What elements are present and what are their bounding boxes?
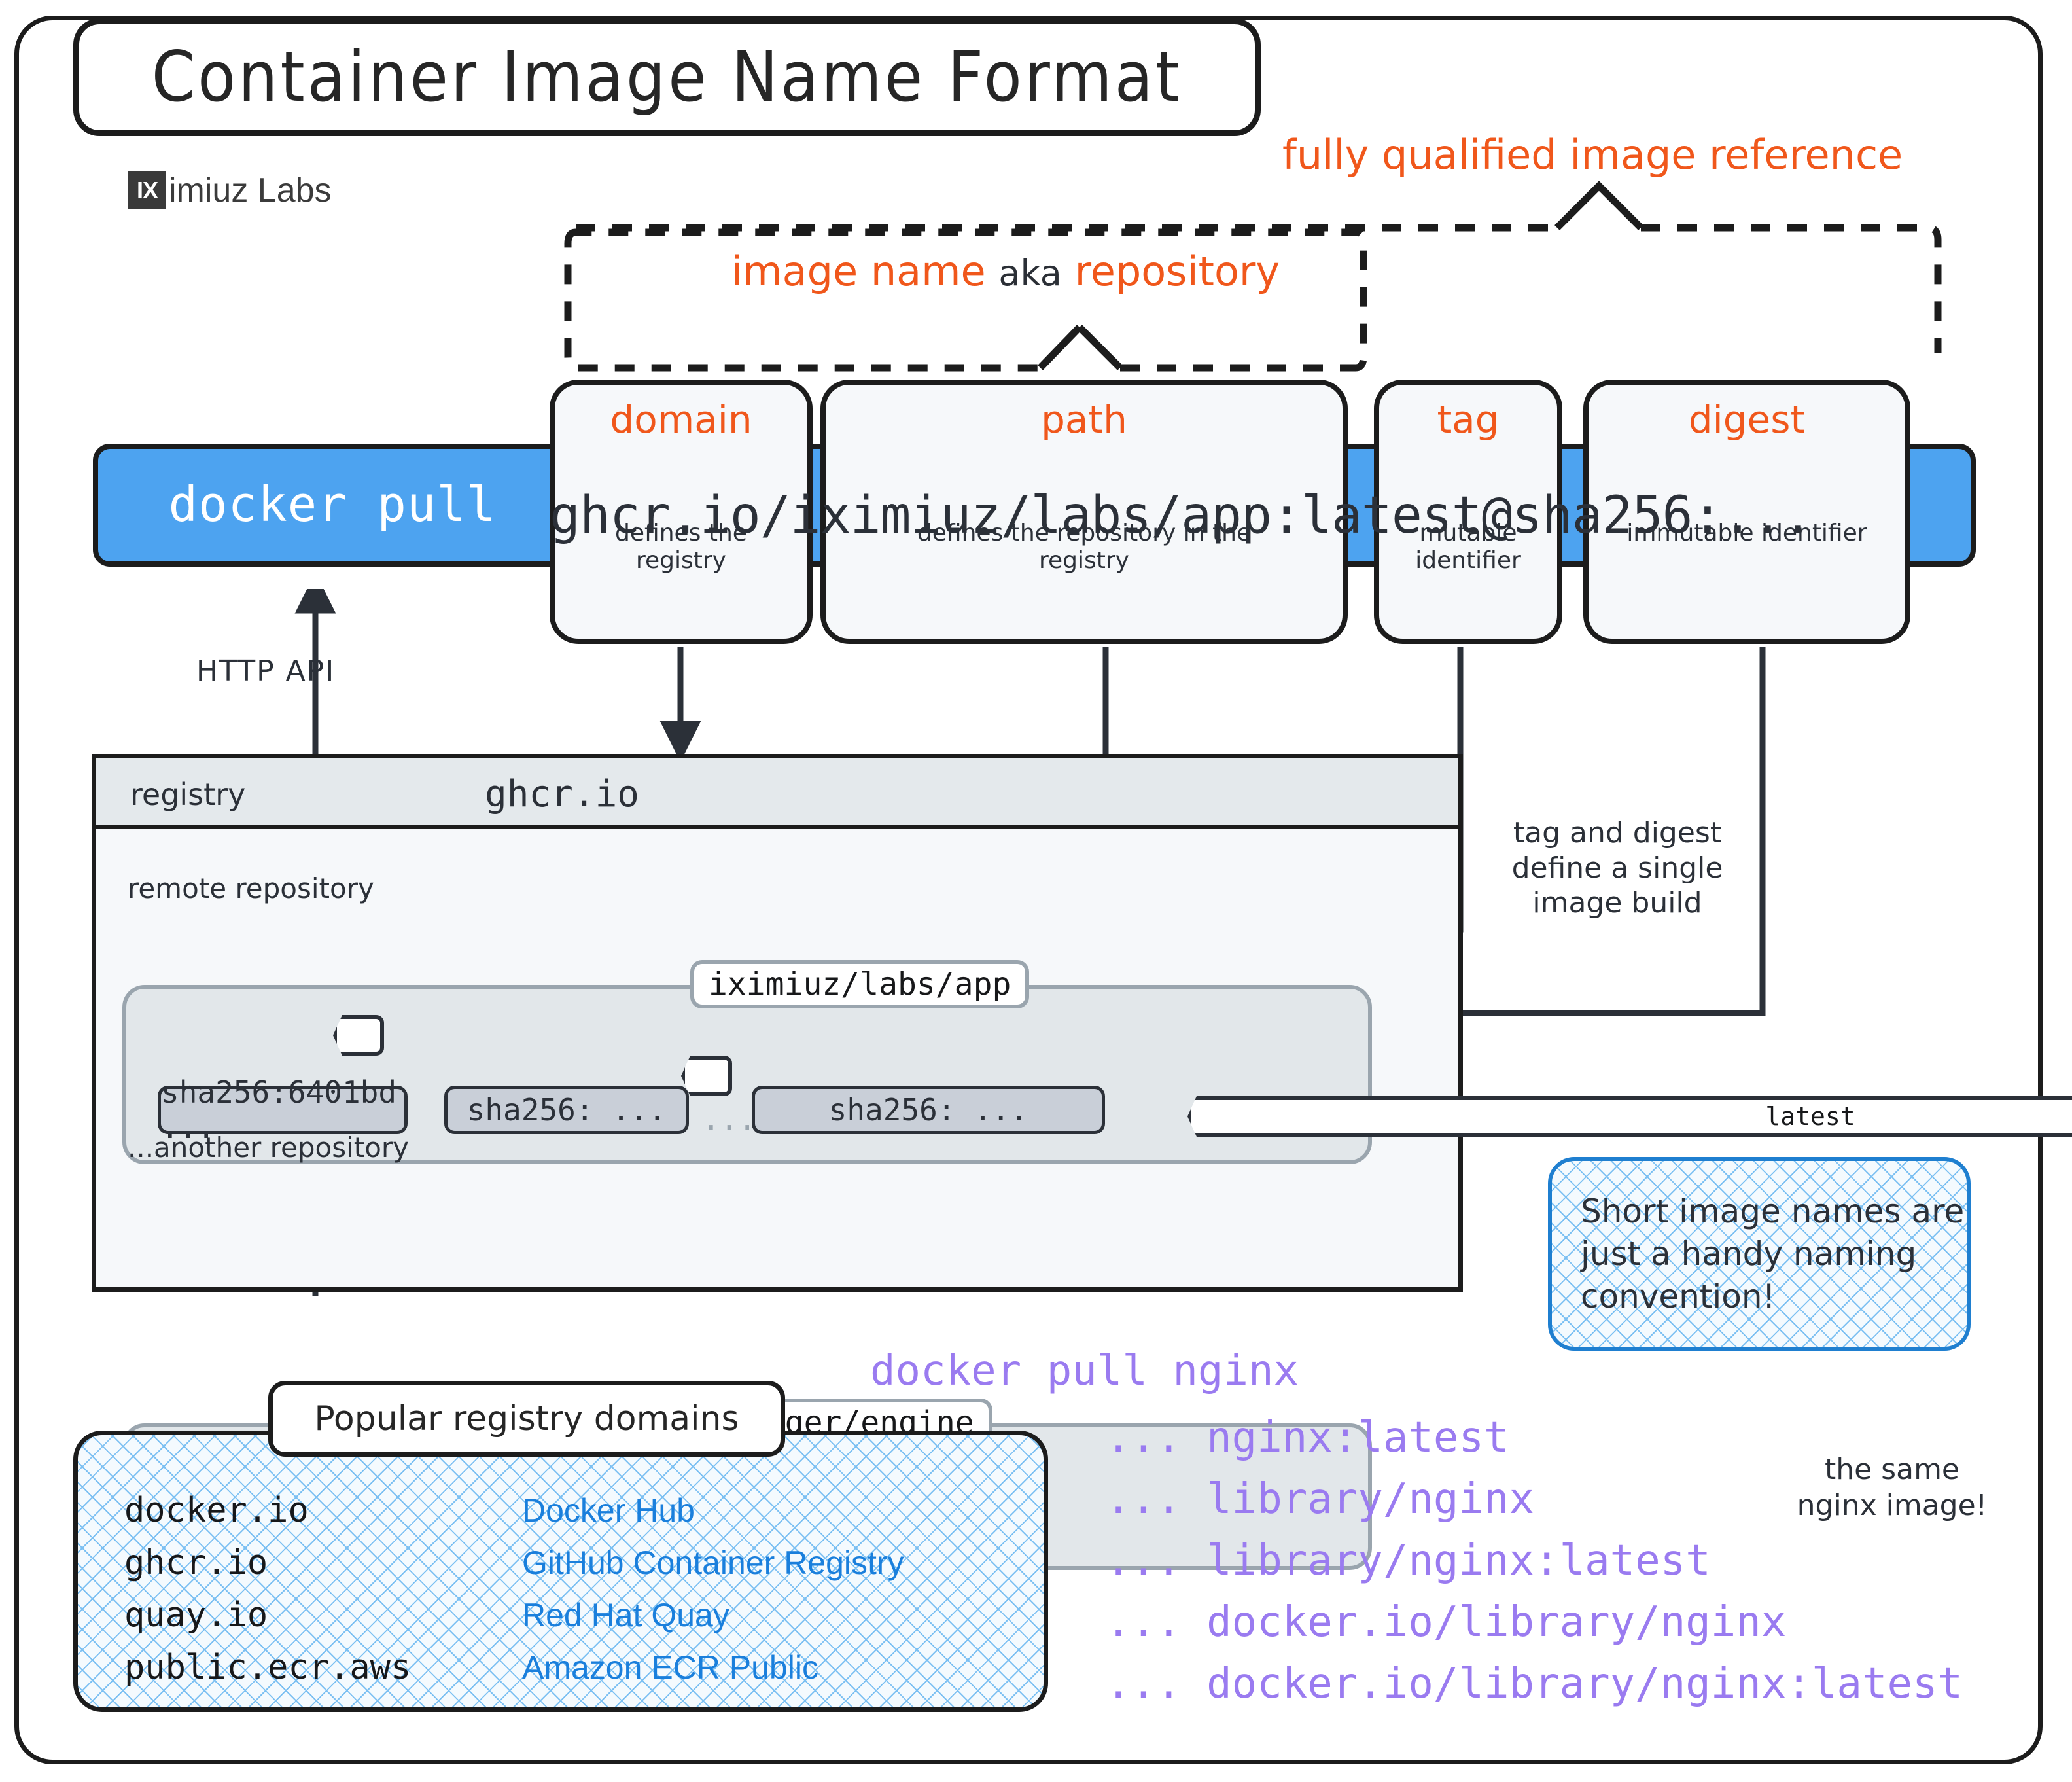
registry-domain-row: docker.io Docker Hub [124,1491,1001,1543]
page-title: Container Image Name Format [152,37,1182,117]
registry-domain-name: Amazon ECR Public [522,1648,818,1686]
tag-digest-note: tag and digest define a single image bui… [1486,815,1748,921]
registry-domain-name: Docker Hub [522,1491,695,1529]
registry-domain-name: GitHub Container Registry [522,1544,904,1582]
registry-domain-row: ghcr.io GitHub Container Registry [124,1543,1001,1595]
segment-title-tag: tag [1437,401,1499,438]
registry-label: registry [130,777,245,812]
nginx-example-row: ... docker.io/library/nginx:latest [1106,1653,1963,1715]
digest-chip-1a: sha256:6401bd ... [158,1086,408,1134]
fully-qualified-reference-label: fully qualified image reference [1282,131,1903,179]
tag-pill-empty-1b [681,1056,732,1096]
full-image-reference: ghcr.io/iximiuz/labs/app:latest@sha256:.… [550,484,1812,547]
tag-pill-empty-1a [333,1015,384,1056]
docker-pull-prefix: docker pull [149,469,516,541]
registry-header: registry ghcr.io [96,758,1458,829]
digest-chip-1b: sha256: ... [444,1086,689,1134]
segment-title-path: path [1041,401,1127,438]
segment-title-digest: digest [1689,401,1805,438]
same-nginx-image-note: the same nginx image! [1794,1452,1990,1524]
http-api-label: HTTP API [196,654,335,688]
nginx-example-row: ... library/nginx:latest [1106,1530,1963,1592]
aka-text: aka [998,253,1062,294]
digest-gap-marker-1: ... [702,1101,756,1137]
registry-value: ghcr.io [485,773,639,815]
nginx-example-row: ... docker.io/library/nginx [1106,1592,1963,1653]
brand-name: imiuz Labs [169,173,332,207]
short-names-callout-text: Short image names are just a handy namin… [1581,1190,1967,1318]
registry-domain-row: quay.io Red Hat Quay [124,1595,1001,1648]
registry-panel: registry ghcr.io remote repository iximi… [92,754,1463,1292]
brand-logo: IX imiuz Labs [128,171,332,209]
diagram-canvas: Container Image Name Format IX imiuz Lab… [0,0,2072,1782]
repository-name-badge-1: iximiuz/labs/app [690,960,1029,1008]
nginx-example-head: docker pull nginx [870,1347,1299,1395]
digest-chip-1c: sha256: ... [752,1086,1105,1134]
diagram-title-box: Container Image Name Format [73,18,1261,136]
image-name-aka-repository-label: image name aka repository [731,247,1280,295]
registry-domain-name: Red Hat Quay [522,1596,729,1634]
repository-caption-2: ...another repository [128,1132,409,1164]
segment-title-domain: domain [610,401,752,438]
iximiuz-logo-icon: IX [128,171,166,209]
repository-text: repository [1062,247,1280,295]
tag-pill-latest: latest [1187,1096,2072,1137]
registry-domain-key: public.ecr.aws [124,1648,522,1687]
popular-registry-domains-title: Popular registry domains [268,1381,785,1457]
registry-domain-key: docker.io [124,1491,522,1530]
registry-domain-key: quay.io [124,1595,522,1635]
short-names-callout: Short image names are just a handy namin… [1548,1157,1971,1351]
registry-domains-list: docker.io Docker Hub ghcr.io GitHub Cont… [124,1491,1001,1700]
registry-domain-key: ghcr.io [124,1543,522,1582]
registry-domain-row: public.ecr.aws Amazon ECR Public [124,1648,1001,1700]
repository-caption-1: remote repository [128,872,374,904]
image-name-text: image name [731,247,998,295]
